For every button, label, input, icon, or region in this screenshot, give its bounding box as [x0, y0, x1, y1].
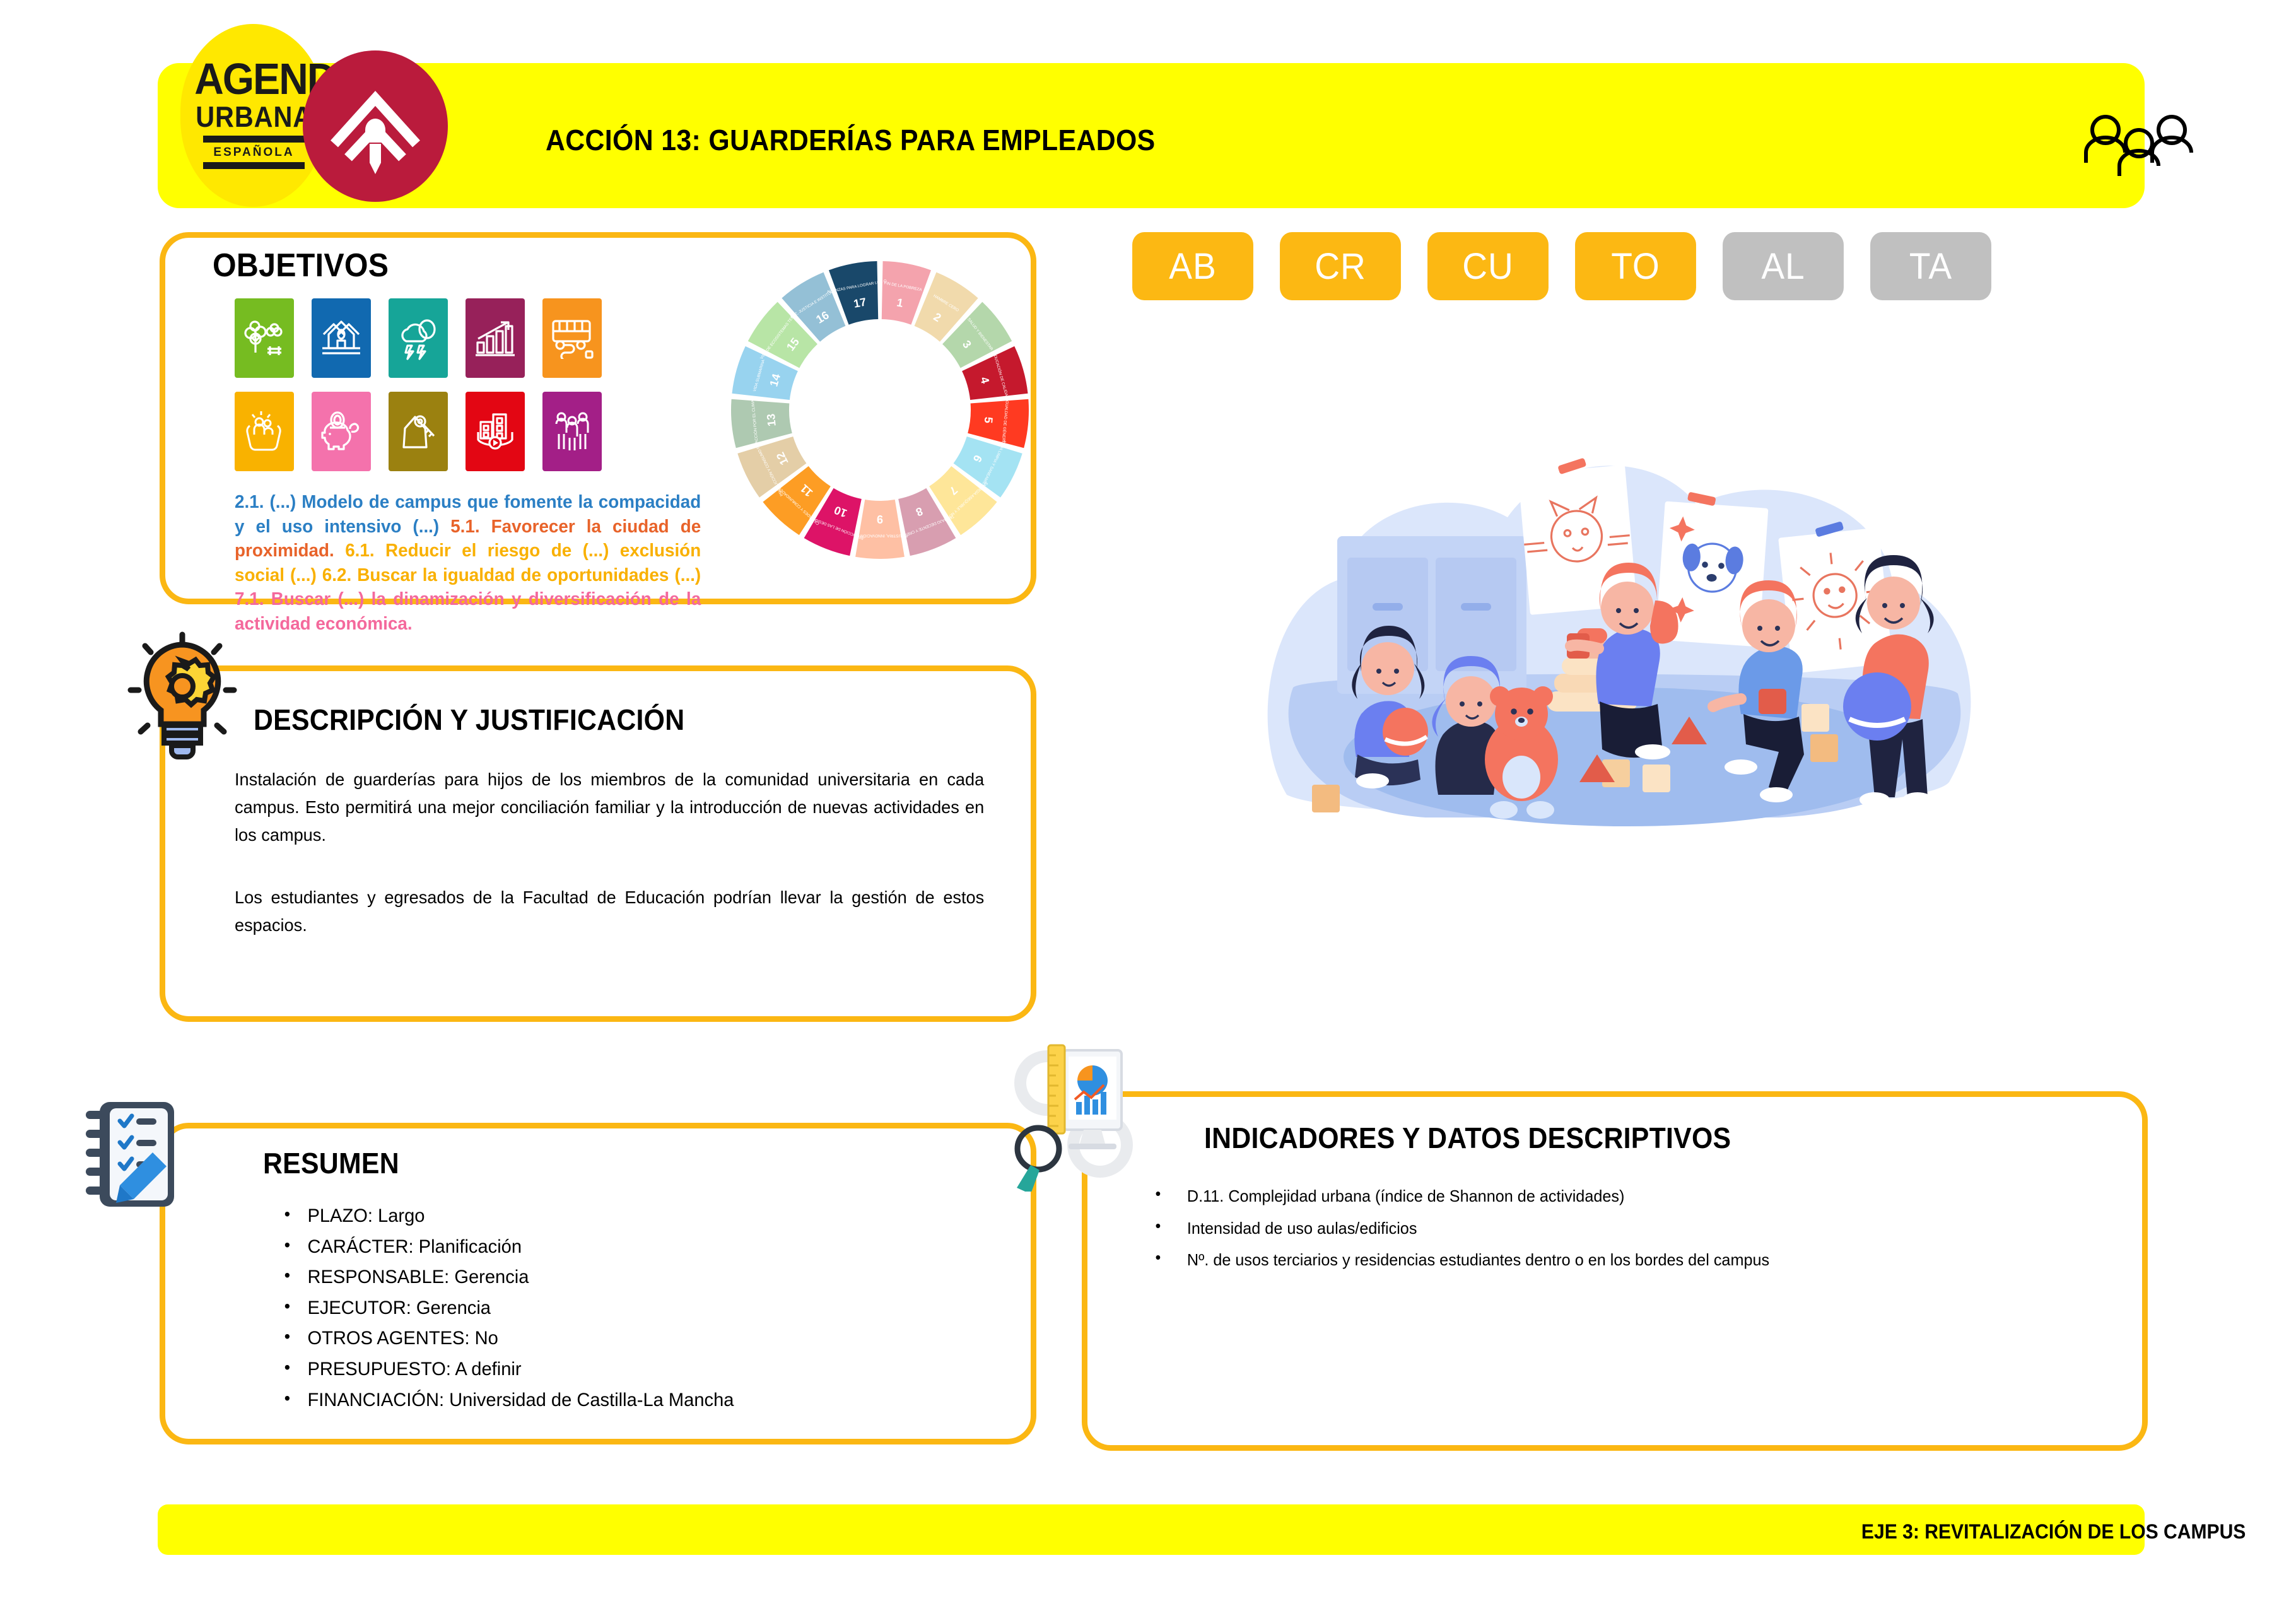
logo-rule-top [203, 136, 305, 143]
chip-ab[interactable]: AB [1132, 232, 1253, 300]
list-item: FINANCIACIÓN: Universidad de Castilla-La… [276, 1385, 734, 1416]
descripcion-title: DESCRIPCIÓN Y JUSTIFICACIÓN [254, 703, 684, 737]
descripcion-paragraph-1: Instalación de guarderías para hijos de … [235, 766, 984, 850]
resumen-title: RESUMEN [263, 1146, 399, 1180]
resumen-list: PLAZO: Largo CARÁCTER: Planificación RES… [276, 1201, 734, 1415]
urban-model-icon [312, 298, 371, 378]
logo-line-agenda: AGENDA [194, 57, 313, 101]
indicadores-card: INDICADORES Y DATOS DESCRIPTIVOS D.11. C… [1082, 1091, 2148, 1451]
indicadores-title: INDICADORES Y DATOS DESCRIPTIVOS [1204, 1121, 1731, 1155]
chip-cr[interactable]: CR [1280, 232, 1401, 300]
chip-to[interactable]: TO [1575, 232, 1696, 300]
objetivos-icon-grid [235, 298, 602, 485]
sdg-number-13: 13 [764, 413, 778, 427]
descripcion-paragraph-2: Los estudiantes y egresados de la Facult… [235, 884, 984, 939]
logo-rule-bottom [203, 162, 305, 169]
climate-change-icon [389, 298, 448, 378]
chip-al[interactable]: AL [1723, 232, 1844, 300]
sdg-number-9: 9 [877, 513, 883, 525]
digital-innovation-icon [466, 392, 525, 471]
indicadores-list: D.11. Complejidad urbana (índice de Shan… [1144, 1180, 1769, 1276]
list-item: D.11. Complejidad urbana (índice de Shan… [1144, 1180, 1769, 1212]
sdg-segment-9 [855, 500, 905, 559]
list-item: PRESUPUESTO: A definir [276, 1354, 734, 1385]
logo-line-espanola: ESPAÑOLA [189, 146, 319, 158]
list-item: PLAZO: Largo [276, 1201, 734, 1232]
descripcion-card: DESCRIPCIÓN Y JUSTIFICACIÓN Instalación … [160, 665, 1036, 1022]
list-item: Intensidad de uso aulas/edificios [1144, 1212, 1769, 1245]
campus-chip-group: AB CR CU TO AL TA [1129, 232, 1994, 300]
objetivos-icon-row-2 [235, 392, 602, 471]
sdg-wheel: 1FIN DE LA POBREZA2HAMBRE CERO3SALUD Y B… [713, 246, 1047, 574]
notebook-checklist-pencil-icon [71, 1091, 197, 1220]
sustainable-management-resources-icon [466, 298, 525, 378]
objetivos-title: OBJETIVOS [213, 247, 389, 284]
sdg-number-17: 17 [853, 295, 867, 310]
governance-participation-icon [542, 392, 602, 471]
monitor-chart-ruler-magnifier-icon [1005, 1034, 1163, 1195]
footer-eje-label: EJE 3: REVITALIZACIÓN DE LOS CAMPUS [1861, 1520, 2246, 1544]
poster-page: AGENDA URBANA ESPAÑOLA ACCIÓN 13: GUARDE… [0, 0, 2296, 1623]
resumen-card: RESUMEN PLAZO: Largo CARÁCTER: Planifica… [160, 1123, 1036, 1444]
chip-cu[interactable]: CU [1427, 232, 1549, 300]
objetivos-text: 2.1. (...) Modelo de campus que fomente … [235, 490, 701, 636]
objetivo-segment-7-1: 7.1. Buscar (...) la dinamización y dive… [235, 589, 701, 634]
chip-ta[interactable]: TA [1870, 232, 1991, 300]
urban-economy-icon [312, 392, 371, 471]
children-playing-nursery-illustration [1236, 416, 2018, 833]
sdg-number-5: 5 [982, 416, 995, 424]
people-group-icon [2082, 114, 2198, 180]
footer-band [158, 1504, 2145, 1555]
list-item: OTROS AGENTES: No [276, 1323, 734, 1354]
territory-landscape-biodiversity-icon [235, 298, 294, 378]
lightbulb-gear-icon [122, 630, 242, 765]
rocket-signal-icon [303, 50, 448, 202]
descripcion-body: Instalación de guarderías para hijos de … [235, 766, 984, 973]
objetivos-icon-row-1 [235, 298, 602, 378]
list-item: CARÁCTER: Planificación [276, 1232, 734, 1263]
proximity-mobility-icon [542, 298, 602, 378]
list-item: RESPONSABLE: Gerencia [276, 1262, 734, 1293]
list-item: EJECUTOR: Gerencia [276, 1293, 734, 1324]
housing-access-icon [389, 392, 448, 471]
list-item: Nº. de usos terciarios y residencias est… [1144, 1244, 1769, 1276]
page-title: ACCIÓN 13: GUARDERÍAS PARA EMPLEADOS [546, 123, 1156, 157]
social-cohesion-equity-icon [235, 392, 294, 471]
logo-line-urbana: URBANA [196, 102, 312, 131]
agenda-urbana-logo: AGENDA URBANA ESPAÑOLA [189, 57, 319, 169]
